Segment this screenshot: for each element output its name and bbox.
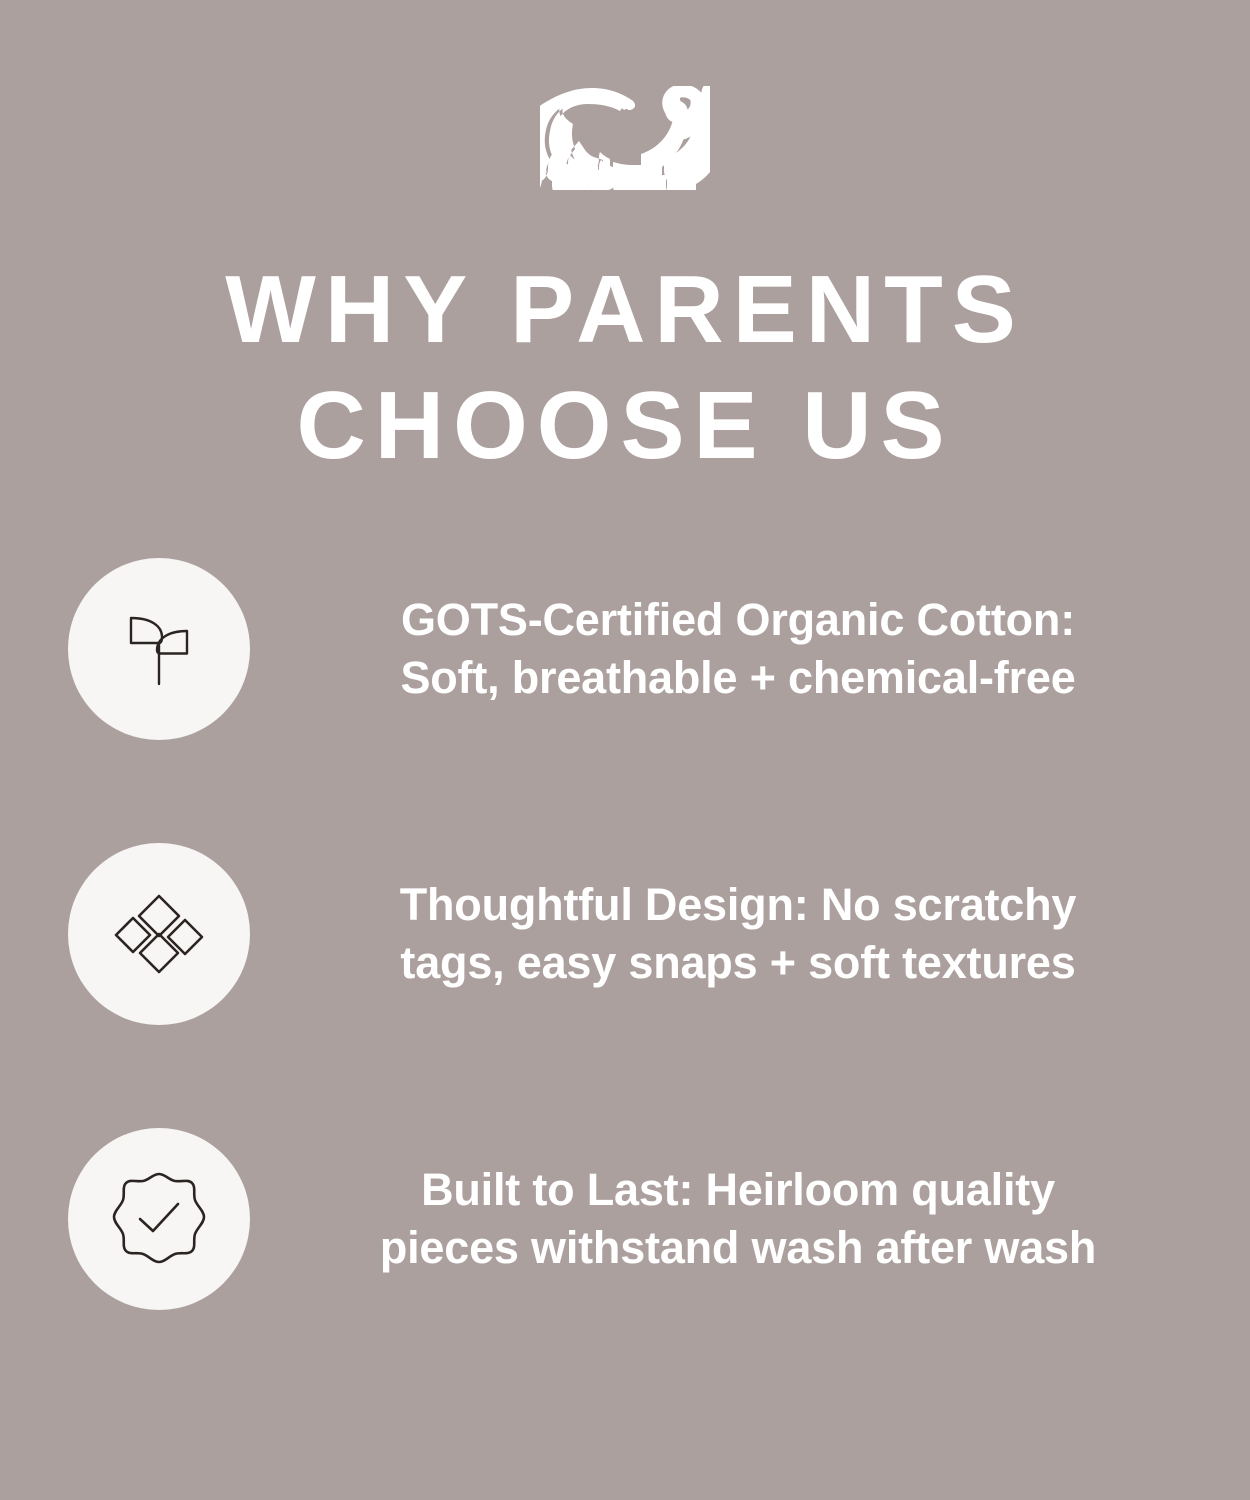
brand-logo bbox=[0, 80, 1250, 195]
feature-icon-badge bbox=[68, 558, 250, 740]
page-title: WHY PARENTS CHOOSE US bbox=[0, 252, 1250, 484]
elephant-logo-icon bbox=[540, 86, 710, 190]
feature-icon-badge bbox=[68, 1128, 250, 1310]
feature-item: Thoughtful Design: No scratchy tags, eas… bbox=[0, 843, 1250, 1025]
scalloped-check-badge-icon bbox=[109, 1169, 209, 1269]
feature-text: Built to Last: Heirloom quality pieces w… bbox=[288, 1161, 1188, 1277]
feature-item: Built to Last: Heirloom quality pieces w… bbox=[0, 1128, 1250, 1310]
feature-text: Thoughtful Design: No scratchy tags, eas… bbox=[288, 876, 1188, 992]
sprout-icon bbox=[116, 606, 202, 692]
feature-icon-badge bbox=[68, 843, 250, 1025]
why-parents-choose-us-panel: WHY PARENTS CHOOSE US GOTS-Certified Org… bbox=[0, 0, 1250, 1500]
feature-list: GOTS-Certified Organic Cotton: Soft, bre… bbox=[0, 558, 1250, 1310]
feature-text: GOTS-Certified Organic Cotton: Soft, bre… bbox=[288, 591, 1188, 707]
four-diamonds-icon bbox=[113, 888, 205, 980]
feature-item: GOTS-Certified Organic Cotton: Soft, bre… bbox=[0, 558, 1250, 740]
